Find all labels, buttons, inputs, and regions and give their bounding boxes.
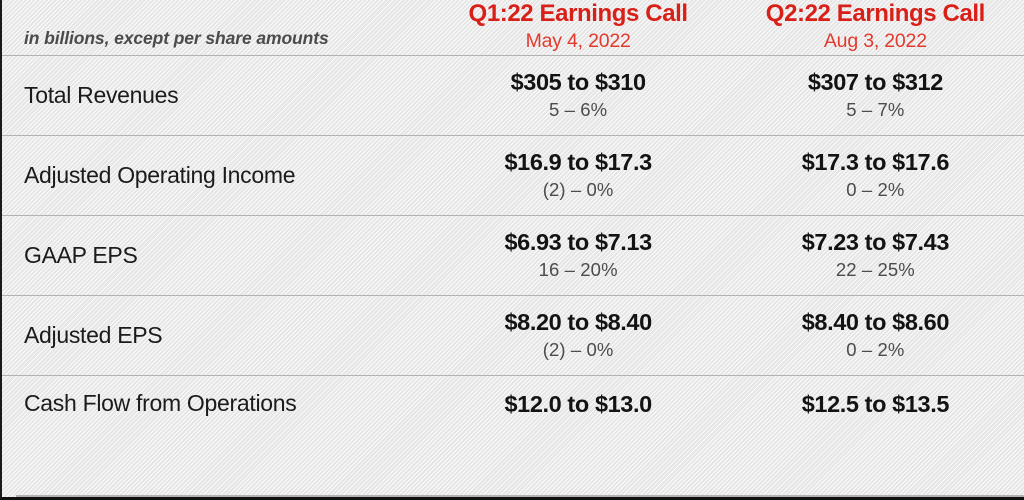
row-value-change: 0 – 2%	[727, 178, 1024, 203]
row-value-cell-q1: $8.20 to $8.40 (2) – 0%	[430, 295, 727, 375]
row-value-change: 22 – 25%	[727, 258, 1024, 283]
header-row: in billions, except per share amounts Q1…	[2, 0, 1024, 55]
row-label-cell: Total Revenues	[2, 55, 430, 135]
row-label-cell: Adjusted EPS	[2, 295, 430, 375]
table-header: in billions, except per share amounts Q1…	[2, 0, 1024, 55]
column-header-q1-date: May 4, 2022	[430, 28, 727, 54]
row-value-cell-q1: $305 to $310 5 – 6%	[430, 55, 727, 135]
row-value-cell-q2: $12.5 to $13.5	[727, 375, 1024, 432]
table-row: Total Revenues $305 to $310 5 – 6% $307 …	[2, 55, 1024, 135]
row-value-change: 5 – 6%	[430, 98, 727, 123]
table-body: Total Revenues $305 to $310 5 – 6% $307 …	[2, 55, 1024, 432]
row-value-main: $7.23 to $7.43	[727, 228, 1024, 256]
row-value-main: $17.3 to $17.6	[727, 148, 1024, 176]
row-value-main: $305 to $310	[430, 68, 727, 96]
guidance-table-slide: in billions, except per share amounts Q1…	[0, 0, 1024, 500]
row-label: Total Revenues	[2, 82, 430, 108]
row-label-cell: Cash Flow from Operations	[2, 375, 430, 432]
row-value-main: $16.9 to $17.3	[430, 148, 727, 176]
row-value-change: 5 – 7%	[727, 98, 1024, 123]
row-value-cell-q1: $12.0 to $13.0	[430, 375, 727, 432]
row-label: GAAP EPS	[2, 242, 430, 268]
column-header-q1-title: Q1:22 Earnings Call	[430, 0, 727, 28]
row-value-cell-q1: $6.93 to $7.13 16 – 20%	[430, 215, 727, 295]
row-value-cell-q1: $16.9 to $17.3 (2) – 0%	[430, 135, 727, 215]
row-value-main: $307 to $312	[727, 68, 1024, 96]
row-label: Adjusted EPS	[2, 322, 430, 348]
table-row: Cash Flow from Operations $12.0 to $13.0…	[2, 375, 1024, 432]
table-row: Adjusted Operating Income $16.9 to $17.3…	[2, 135, 1024, 215]
units-note: in billions, except per share amounts	[2, 0, 430, 49]
table-bottom-rule	[16, 495, 1024, 497]
column-header-q2-date: Aug 3, 2022	[727, 28, 1024, 54]
column-header-q2-title: Q2:22 Earnings Call	[727, 0, 1024, 28]
row-value-cell-q2: $8.40 to $8.60 0 – 2%	[727, 295, 1024, 375]
row-label: Cash Flow from Operations	[2, 390, 430, 416]
row-value-main: $8.40 to $8.60	[727, 308, 1024, 336]
table-row: GAAP EPS $6.93 to $7.13 16 – 20% $7.23 t…	[2, 215, 1024, 295]
row-value-main: $8.20 to $8.40	[430, 308, 727, 336]
row-value-main: $12.5 to $13.5	[727, 390, 1024, 418]
guidance-table: in billions, except per share amounts Q1…	[2, 0, 1024, 432]
row-value-cell-q2: $17.3 to $17.6 0 – 2%	[727, 135, 1024, 215]
row-value-change: (2) – 0%	[430, 338, 727, 363]
row-label-cell: Adjusted Operating Income	[2, 135, 430, 215]
row-value-main: $6.93 to $7.13	[430, 228, 727, 256]
column-header-q2: Q2:22 Earnings Call Aug 3, 2022	[727, 0, 1024, 55]
units-note-cell: in billions, except per share amounts	[2, 0, 430, 55]
row-value-change: 16 – 20%	[430, 258, 727, 283]
column-header-q1: Q1:22 Earnings Call May 4, 2022	[430, 0, 727, 55]
row-value-change: 0 – 2%	[727, 338, 1024, 363]
row-label-cell: GAAP EPS	[2, 215, 430, 295]
row-value-cell-q2: $7.23 to $7.43 22 – 25%	[727, 215, 1024, 295]
row-value-main: $12.0 to $13.0	[430, 390, 727, 418]
row-value-cell-q2: $307 to $312 5 – 7%	[727, 55, 1024, 135]
row-value-change: (2) – 0%	[430, 178, 727, 203]
row-label: Adjusted Operating Income	[2, 162, 430, 188]
table-row: Adjusted EPS $8.20 to $8.40 (2) – 0% $8.…	[2, 295, 1024, 375]
